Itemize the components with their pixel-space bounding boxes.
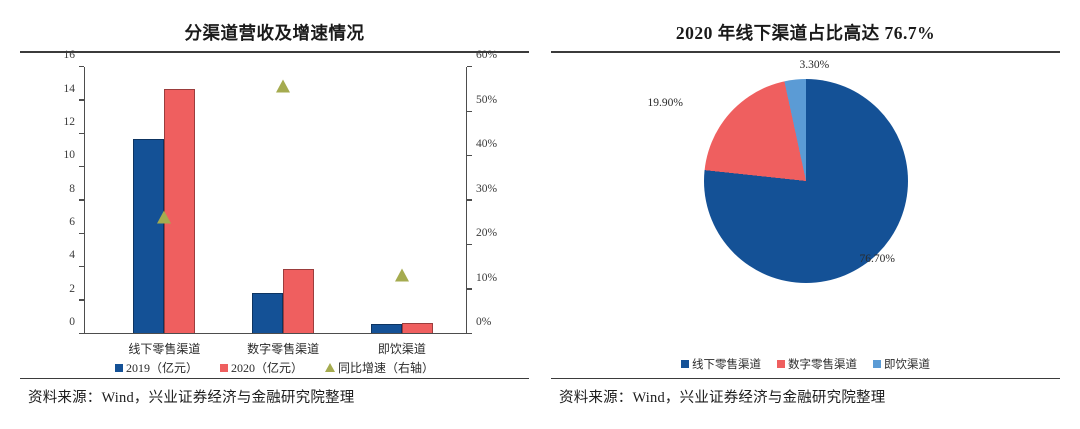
y2-tick — [467, 199, 472, 200]
legend-swatch-square-icon — [115, 364, 123, 372]
y-tick — [79, 233, 84, 234]
right-chart-panel: 2020 年线下渠道占比高达 76.7% 3.30% 19.90% 76.70%… — [551, 18, 1060, 409]
growth-marker[interactable] — [157, 211, 171, 224]
y2-tick-label: 40% — [476, 138, 497, 150]
legend-item-offline[interactable]: 线下零售渠道 — [681, 356, 761, 372]
x-tick-label: 数字零售渠道 — [247, 340, 319, 357]
legend-swatch-square-icon — [873, 360, 881, 368]
pie-data-label-ondrink: 3.30% — [800, 59, 830, 71]
left-y-axis — [84, 67, 85, 334]
pie-chart-legend: 线下零售渠道 数字零售渠道 即饮渠道 — [551, 356, 1060, 372]
y2-tick — [467, 66, 472, 67]
y-tick — [79, 166, 84, 167]
x-axis — [84, 333, 467, 334]
figure-page: 分渠道营收及增速情况 0 2 4 6 8 — [0, 0, 1080, 429]
y-tick-label: 14 — [64, 83, 76, 95]
y-tick-label: 0 — [69, 316, 75, 328]
legend-item-digital[interactable]: 数字零售渠道 — [777, 356, 857, 372]
bar-group: 线下零售渠道 — [122, 66, 206, 333]
left-panel-source: 资料来源：Wind，兴业证券经济与金融研究院整理 — [20, 379, 529, 409]
y2-tick-label: 0% — [476, 316, 491, 328]
y2-tick-label: 50% — [476, 94, 497, 106]
legend-label: 线下零售渠道 — [692, 356, 761, 372]
y2-tick — [467, 111, 472, 112]
growth-marker[interactable] — [395, 268, 409, 281]
x-tick-label: 即饮渠道 — [378, 340, 426, 357]
pie-data-label-offline: 76.70% — [860, 253, 895, 265]
y-tick — [79, 66, 84, 67]
y-tick — [79, 266, 84, 267]
bar-2019[interactable] — [133, 139, 164, 332]
legend-item-2019[interactable]: 2019（亿元） — [115, 359, 198, 376]
bar-2019[interactable] — [252, 293, 283, 333]
y2-tick-label: 30% — [476, 183, 497, 195]
y-tick-label: 6 — [69, 216, 75, 228]
y-tick — [79, 133, 84, 134]
right-y-axis — [466, 67, 467, 334]
legend-label: 2020（亿元） — [231, 359, 303, 376]
right-panel-title: 2020 年线下渠道占比高达 76.7% — [551, 18, 1060, 51]
pie-chart: 3.30% 19.90% 76.70% 线下零售渠道 数字零售渠道 — [551, 53, 1060, 376]
legend-swatch-triangle-icon — [325, 363, 335, 372]
left-panel-title: 分渠道营收及增速情况 — [20, 18, 529, 51]
bar-group: 即饮渠道 — [360, 66, 444, 333]
y2-tick — [467, 288, 472, 289]
y2-tick — [467, 333, 472, 334]
y2-tick-label: 60% — [476, 49, 497, 61]
y-tick — [79, 333, 84, 334]
y-tick — [79, 299, 84, 300]
y-tick-label: 4 — [69, 249, 75, 261]
pie-plot-area: 3.30% 19.90% 76.70% — [704, 79, 908, 283]
y2-tick — [467, 244, 472, 245]
bar-2020[interactable] — [402, 323, 433, 333]
y2-tick-label: 20% — [476, 227, 497, 239]
legend-label: 同比增速（右轴） — [338, 359, 434, 376]
bar-chart-legend: 2019（亿元） 2020（亿元） 同比增速（右轴） — [20, 359, 529, 376]
y-tick-label: 12 — [64, 116, 76, 128]
bar-2020[interactable] — [283, 269, 314, 332]
legend-label: 即饮渠道 — [884, 356, 930, 372]
legend-item-2020[interactable]: 2020（亿元） — [220, 359, 303, 376]
bar-plot-area: 0 2 4 6 8 10 12 14 16 — [84, 67, 467, 334]
y2-tick — [467, 155, 472, 156]
legend-item-ondrink[interactable]: 即饮渠道 — [873, 356, 930, 372]
legend-swatch-square-icon — [777, 360, 785, 368]
y-tick-label: 8 — [69, 183, 75, 195]
left-chart-panel: 分渠道营收及增速情况 0 2 4 6 8 — [20, 18, 529, 409]
right-panel-source: 资料来源：Wind，兴业证券经济与金融研究院整理 — [551, 379, 1060, 409]
y2-tick-label: 10% — [476, 272, 497, 284]
growth-marker[interactable] — [276, 79, 290, 92]
y-tick-label: 16 — [64, 49, 76, 61]
bar-2019[interactable] — [371, 324, 402, 333]
y-tick — [79, 99, 84, 100]
pie-data-label-digital: 19.90% — [648, 97, 683, 109]
legend-item-growth[interactable]: 同比增速（右轴） — [325, 359, 434, 376]
legend-label: 2019（亿元） — [126, 359, 198, 376]
legend-swatch-square-icon — [681, 360, 689, 368]
y-tick-label: 10 — [64, 149, 76, 161]
bar-chart: 0 2 4 6 8 10 12 14 16 — [20, 53, 529, 376]
legend-label: 数字零售渠道 — [788, 356, 857, 372]
x-tick-label: 线下零售渠道 — [128, 340, 200, 357]
y-tick — [79, 199, 84, 200]
bar-group: 数字零售渠道 — [241, 66, 325, 333]
y-tick-label: 2 — [69, 283, 75, 295]
legend-swatch-square-icon — [220, 364, 228, 372]
